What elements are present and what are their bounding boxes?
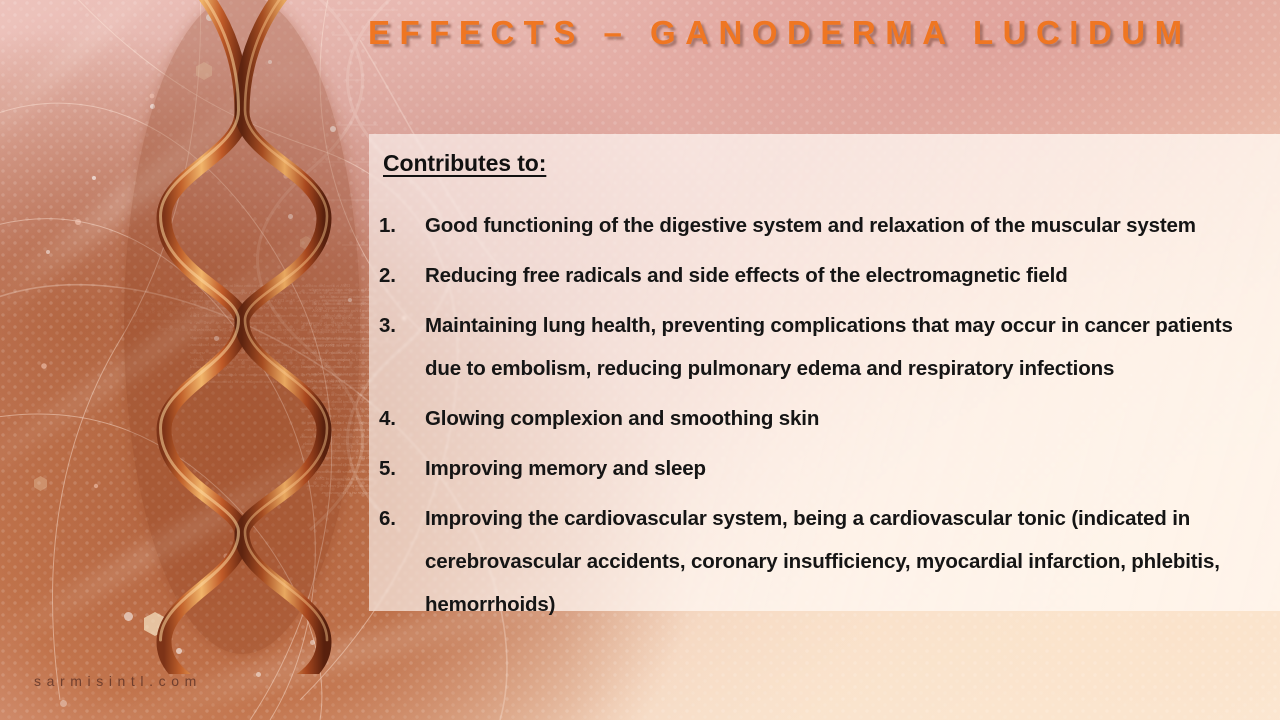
site-watermark: sarmisintl.com bbox=[34, 673, 202, 689]
list-item-text: Reducing free radicals and side effects … bbox=[425, 254, 1273, 297]
list-item-number: 4. bbox=[378, 397, 425, 440]
list-item: 3.Maintaining lung health, preventing co… bbox=[378, 304, 1273, 390]
presentation-slide: DNA is a nucleic acid that carries the g… bbox=[0, 0, 1280, 720]
list-item-text: Improving the cardiovascular system, bei… bbox=[425, 497, 1273, 626]
list-item: 2.Reducing free radicals and side effect… bbox=[378, 254, 1273, 297]
list-item-text: Glowing complexion and smoothing skin bbox=[425, 397, 1273, 440]
list-item: 5.Improving memory and sleep bbox=[378, 447, 1273, 490]
slide-title: EFFECTS – GANODERMA LUCIDUM bbox=[368, 14, 1280, 52]
list-item: 6.Improving the cardiovascular system, b… bbox=[378, 497, 1273, 626]
list-item-number: 3. bbox=[378, 304, 425, 347]
benefits-list: 1.Good functioning of the digestive syst… bbox=[378, 204, 1273, 633]
list-item-text: Good functioning of the digestive system… bbox=[425, 204, 1273, 247]
list-item-text: Improving memory and sleep bbox=[425, 447, 1273, 490]
list-item-number: 1. bbox=[378, 204, 425, 247]
list-item-text: Maintaining lung health, preventing comp… bbox=[425, 304, 1273, 390]
content-panel: Contributes to: 1.Good functioning of th… bbox=[369, 134, 1280, 611]
list-item-number: 6. bbox=[378, 497, 425, 540]
list-item-number: 2. bbox=[378, 254, 425, 297]
dna-double-helix-icon bbox=[92, 0, 392, 674]
list-item: 4.Glowing complexion and smoothing skin bbox=[378, 397, 1273, 440]
content-heading: Contributes to: bbox=[383, 150, 546, 177]
list-item: 1.Good functioning of the digestive syst… bbox=[378, 204, 1273, 247]
list-item-number: 5. bbox=[378, 447, 425, 490]
